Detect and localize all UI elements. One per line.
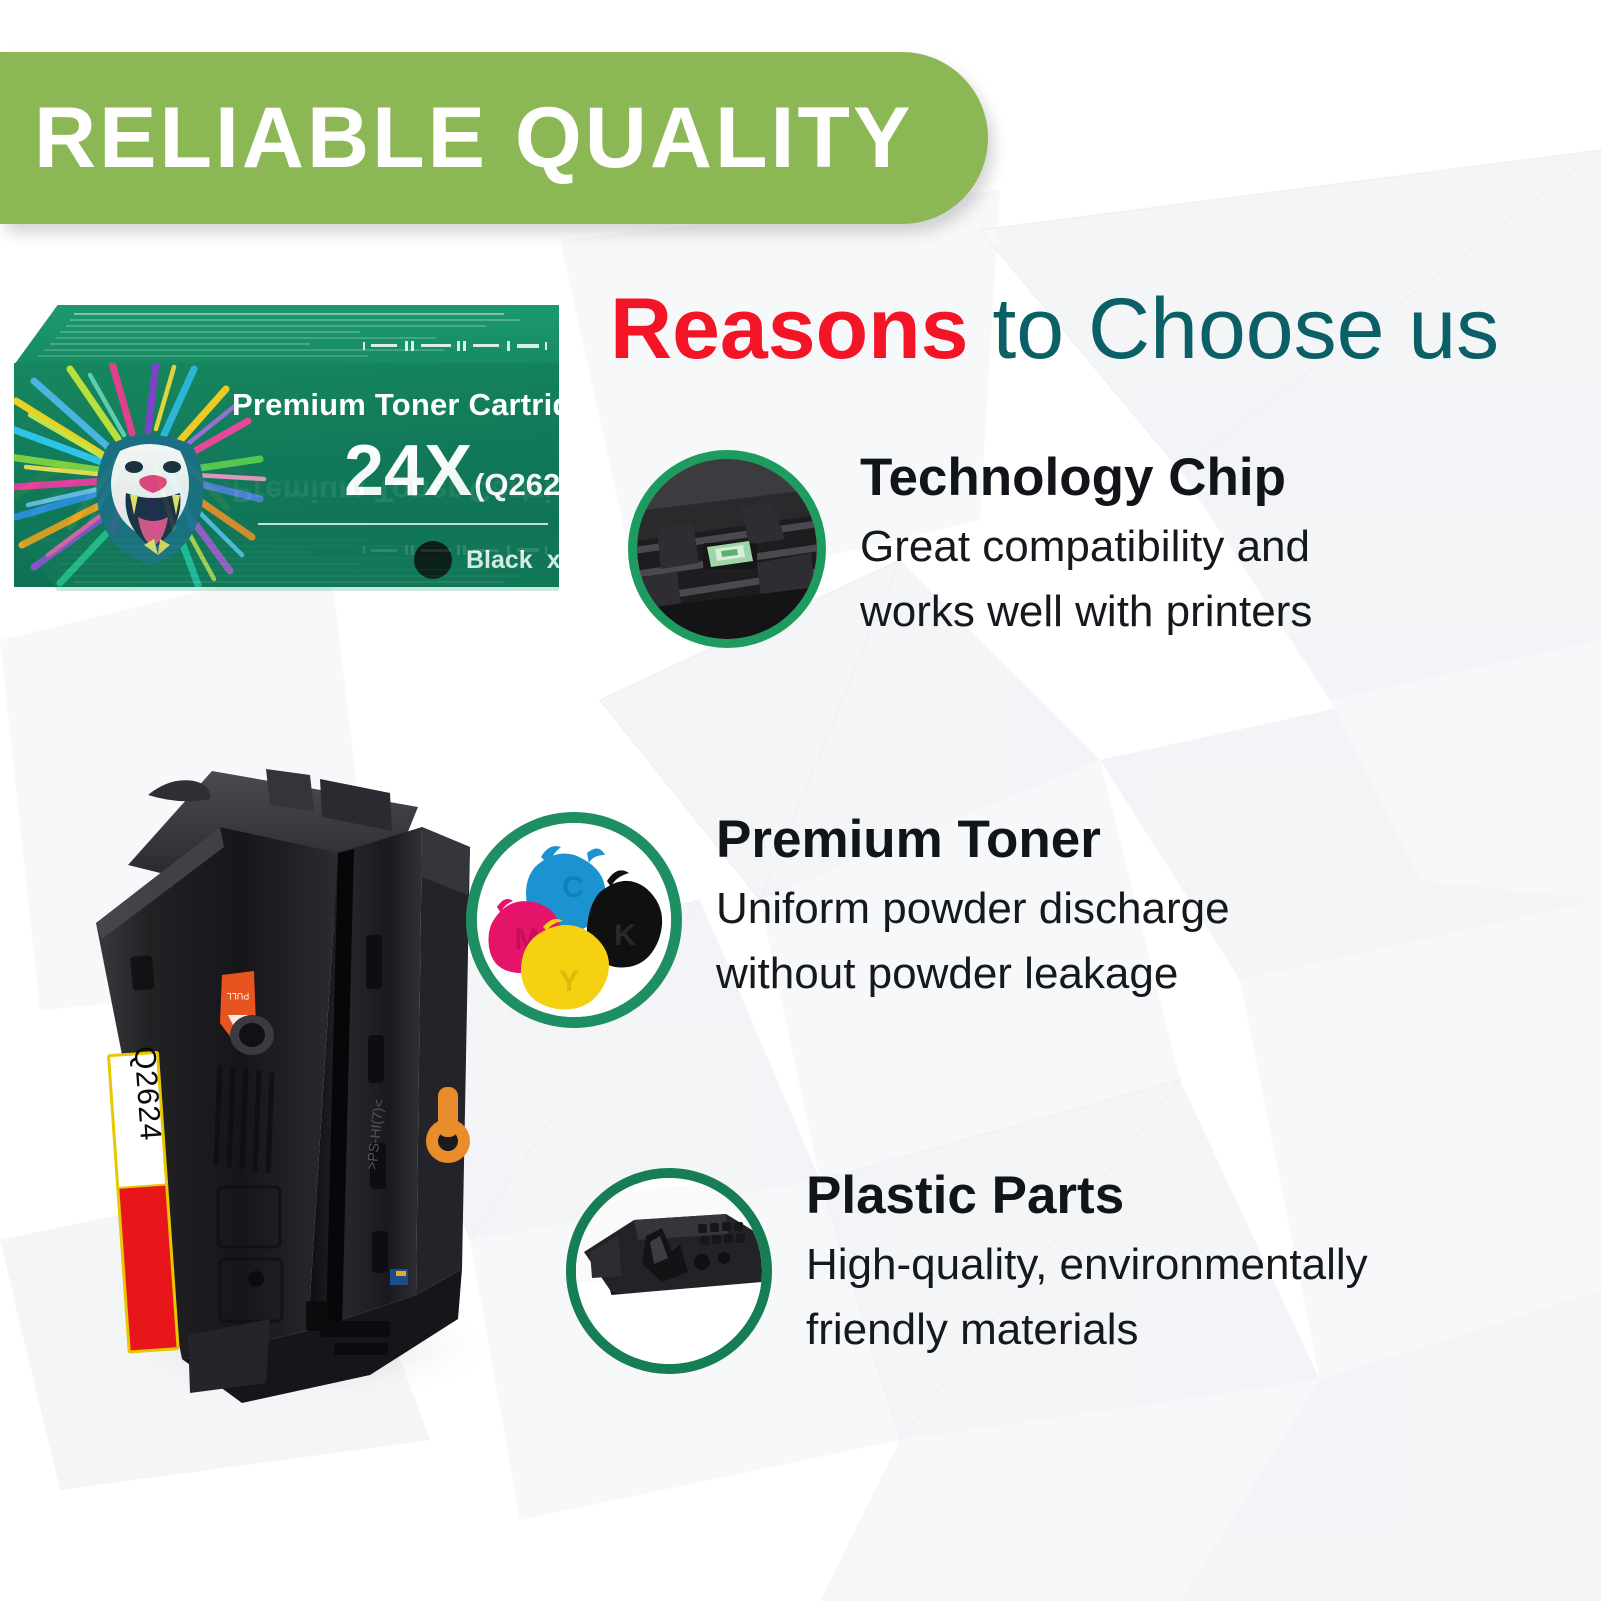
technology-chip-icon [628, 450, 826, 648]
package-quantity: x1 [547, 546, 559, 575]
package-top-face [14, 305, 559, 365]
plastic-parts-text: Plastic Parts High-quality, environmenta… [806, 1168, 1368, 1361]
feature-row-technology-chip: Technology Chip Great compatibility and … [628, 450, 1312, 648]
feature-row-premium-toner: C M K Y Premium Toner Uniform powder dis… [466, 812, 1230, 1028]
premium-toner-text: Premium Toner Uniform powder discharge w… [716, 812, 1230, 1005]
product-package-image: Premium Toner Cartridge 24X(Q2624X) Blac… [14, 305, 574, 695]
svg-text:Y: Y [559, 965, 579, 998]
svg-text:C: C [562, 871, 584, 904]
reliable-quality-banner: RELIABLE QUALITY [0, 52, 988, 224]
feature-body-line1: High-quality, environmentally [806, 1234, 1368, 1296]
package-color-name: Black [466, 546, 533, 575]
banner-label-text: RELIABLE QUALITY [34, 90, 913, 186]
package-box: Premium Toner Cartridge 24X(Q2624X) Blac… [14, 305, 559, 587]
feature-body-line1: Great compatibility and [860, 516, 1312, 578]
package-model-number: 24X [344, 431, 472, 511]
package-barcode [361, 339, 551, 353]
cmyk-toner-powder-icon: C M K Y [466, 812, 682, 1028]
page-title-highlight: Reasons [610, 281, 969, 377]
toner-cartridge-image: PULL Q2624 >PS-HI(7)< [70, 735, 500, 1415]
feature-body-line1: Uniform powder discharge [716, 878, 1230, 940]
feature-body-line2: works well with printers [860, 581, 1312, 643]
package-divider [258, 523, 548, 525]
feature-title: Premium Toner [716, 812, 1230, 868]
black-color-dot [414, 541, 452, 579]
feature-title: Plastic Parts [806, 1168, 1368, 1224]
plastic-parts-icon [566, 1168, 772, 1374]
feature-row-plastic-parts: Plastic Parts High-quality, environmenta… [566, 1168, 1368, 1374]
package-front-face: Premium Toner Cartridge 24X(Q2624X) Blac… [14, 363, 559, 587]
package-color-row: Black x1 [414, 541, 559, 579]
page-title: Reasons to Choose us [610, 285, 1590, 374]
banner-label: RELIABLE QUALITY [34, 95, 913, 181]
package-model: 24X(Q2624X) [344, 435, 559, 507]
feature-body-line2: without powder leakage [716, 943, 1230, 1005]
svg-text:K: K [614, 919, 636, 952]
page-title-rest: to Choose us [969, 281, 1500, 377]
package-sku: (Q2624X) [474, 467, 559, 502]
svg-text:Q2624: Q2624 [127, 1045, 167, 1142]
feature-body-line2: friendly materials [806, 1299, 1368, 1361]
svg-text:PULL: PULL [227, 991, 250, 1001]
technology-chip-text: Technology Chip Great compatibility and … [860, 450, 1312, 643]
plastic-parts-photo [576, 1178, 762, 1364]
feature-title: Technology Chip [860, 450, 1312, 506]
package-title: Premium Toner Cartridge [232, 387, 559, 423]
chip-photo [637, 459, 817, 639]
toner-powder-photo: C M K Y [477, 823, 671, 1017]
lion-artwork [14, 363, 268, 587]
